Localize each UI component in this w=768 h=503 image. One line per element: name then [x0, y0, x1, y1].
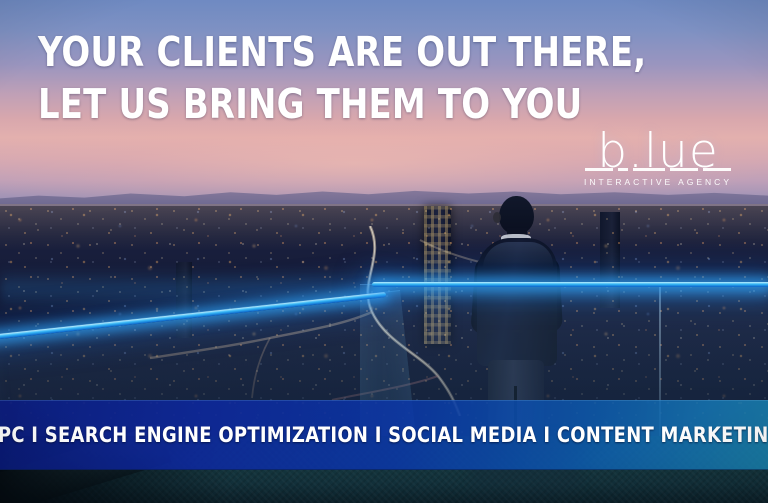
led-ambient-glow	[0, 268, 768, 310]
brand-logo[interactable]: b.lue INTERACTIVE AGENCY	[583, 128, 733, 192]
figure-ear	[493, 212, 501, 223]
marketing-banner: YOUR CLIENTS ARE OUT THERE, LET US BRING…	[0, 0, 768, 503]
headline-line-2: LET US BRING THEM TO YOU	[38, 78, 627, 130]
led-strip-right	[372, 282, 768, 287]
logo-tagline: INTERACTIVE AGENCY	[583, 177, 733, 187]
services-bar: PPC I SEARCH ENGINE OPTIMIZATION I SOCIA…	[0, 400, 768, 470]
headline-line-1: YOUR CLIENTS ARE OUT THERE,	[38, 26, 627, 78]
services-bar-text: PPC I SEARCH ENGINE OPTIMIZATION I SOCIA…	[19, 401, 749, 469]
logo-underline-rules	[585, 168, 731, 172]
page-title: YOUR CLIENTS ARE OUT THERE, LET US BRING…	[38, 26, 627, 130]
